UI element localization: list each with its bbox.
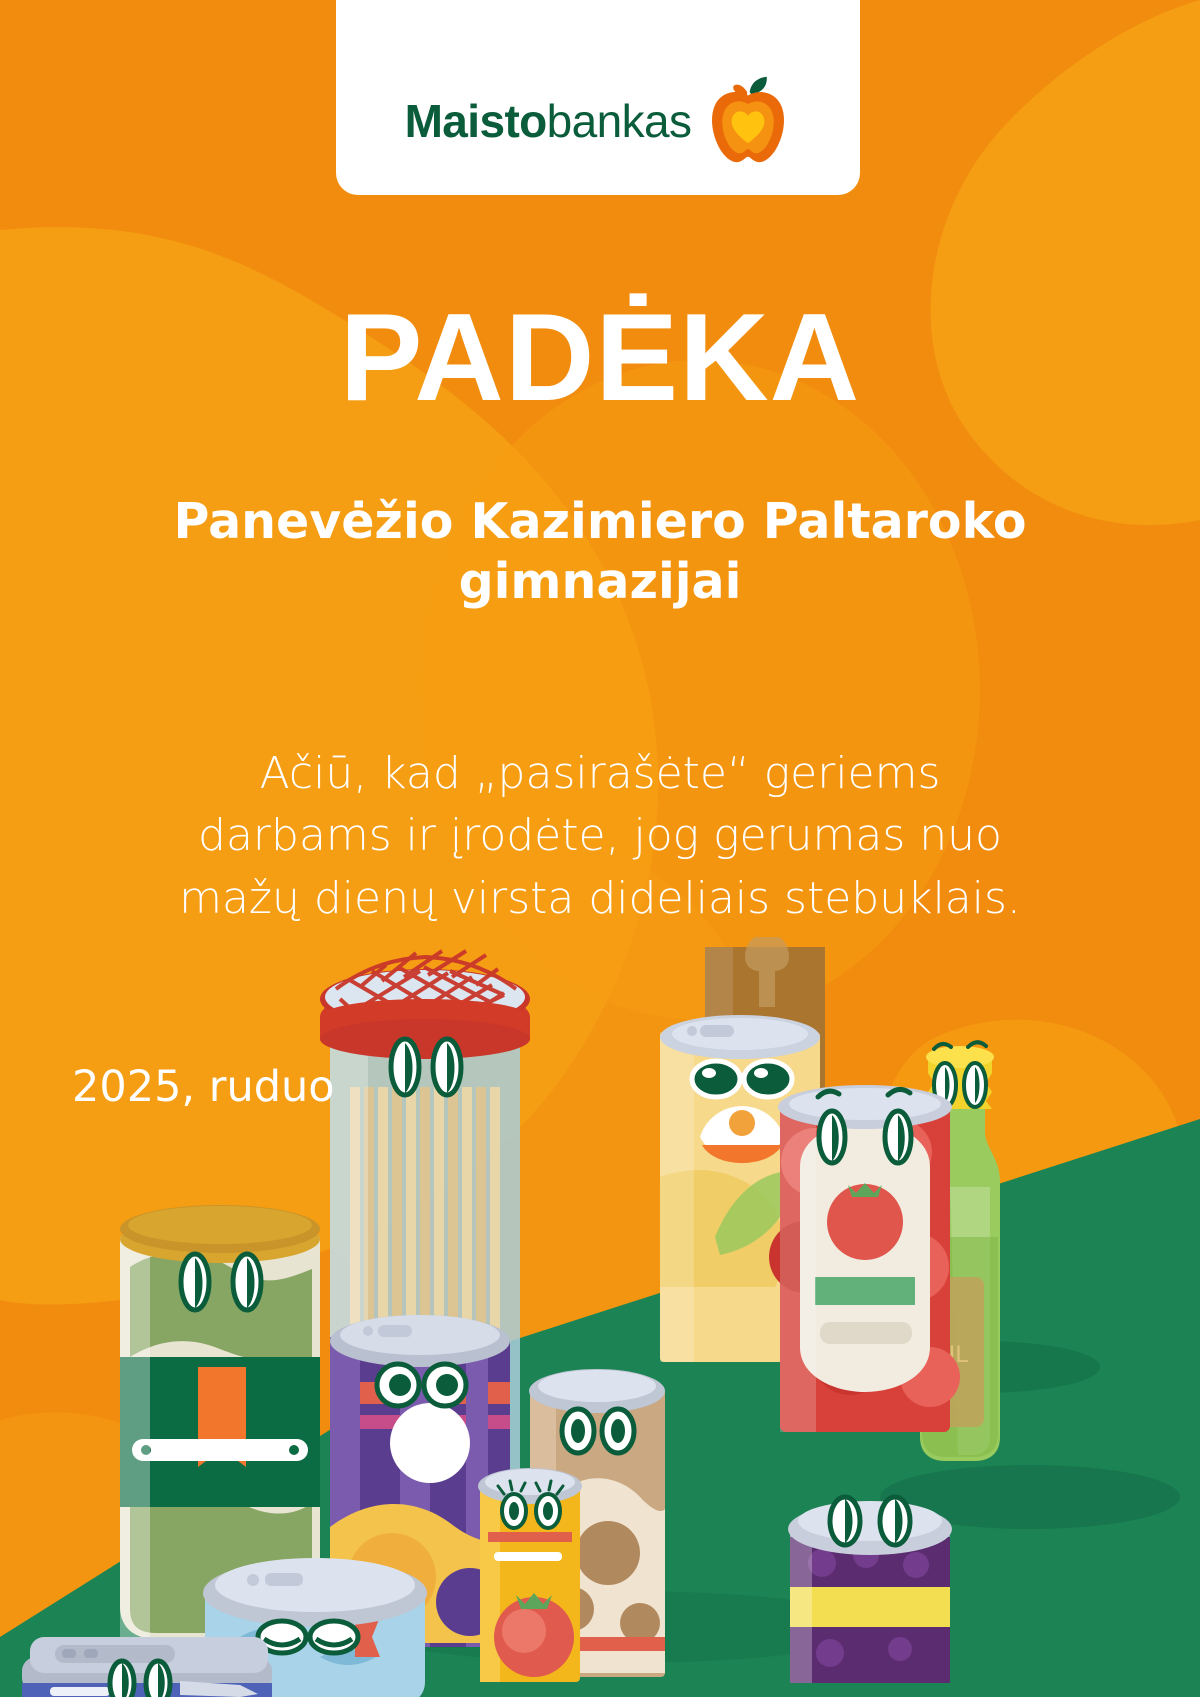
brand-logo-card: Maistobankas [336,0,860,195]
message-line-1: Ačiū, kad „pasirašėte“ geriems [62,743,1138,805]
tomato-jar [769,1085,960,1432]
page-title: PADĖKA [0,296,1200,420]
brand-name-light: bankas [547,95,692,147]
sardine-tin [22,1637,272,1697]
brand-name-bold: Maisto [405,95,547,147]
brand-wordmark: Maistobankas [405,98,692,144]
canned-food-illustration: OIL [0,937,1200,1697]
apple-heart-icon [705,75,791,167]
season-label: 2025, ruduo [72,1062,335,1112]
recipient-name: Panevėžio Kazimiero Paltaroko gimnazijai [0,492,1200,612]
tomato-paste-can [478,1468,582,1682]
message-line-2: darbams ir įrodėte, jog gerumas nuo [62,805,1138,867]
thank-you-message: Ačiū, kad „pasirašėte“ geriems darbams i… [0,743,1200,930]
message-line-3: mažų dienų virsta dideliais stebuklais. [62,868,1138,930]
jam-jar [788,1497,952,1683]
poster-canvas: Maistobankas PADĖKA Panevėžio Kazimiero … [0,0,1200,1697]
